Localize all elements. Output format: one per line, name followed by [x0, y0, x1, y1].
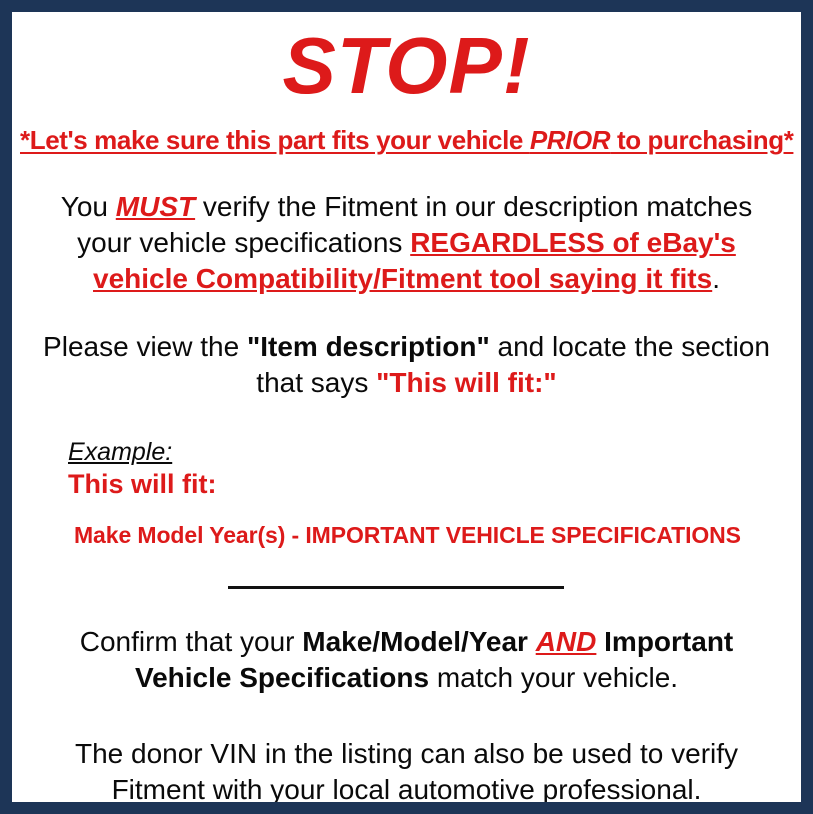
subtitle-tail-text: to purchasing* — [610, 125, 793, 155]
subtitle-banner: *Let's make sure this part fits your veh… — [20, 106, 793, 156]
confirm-space-1 — [528, 626, 536, 657]
confirm-bold-make-model-year: Make/Model/Year — [302, 626, 528, 657]
fitment-notice-card: STOP! *Let's make sure this part fits yo… — [0, 0, 813, 814]
paragraph-must-verify: You MUST verify the Fitment in our descr… — [20, 156, 793, 296]
notice-content-area: STOP! *Let's make sure this part fits yo… — [12, 12, 801, 802]
confirm-seg-2: match your vehicle. — [429, 662, 678, 693]
confirm-space-2 — [596, 626, 604, 657]
example-spec-line: Make Model Year(s) - IMPORTANT VEHICLE S… — [68, 500, 793, 548]
subtitle-emphasis-prior: PRIOR — [530, 125, 610, 155]
subtitle-lead-text: *Let's make sure this part fits your veh… — [20, 125, 530, 155]
stop-heading: STOP! — [20, 12, 793, 106]
confirm-and-emphasis: AND — [536, 626, 597, 657]
desc-red-this-will-fit: "This will fit:" — [376, 367, 557, 398]
divider-wrapper — [20, 548, 793, 594]
desc-seg-1: Please view the — [43, 331, 247, 362]
example-label-row: Example: — [68, 439, 793, 467]
example-block: Example: This will fit: Make Model Year(… — [20, 401, 793, 548]
confirm-seg-1: Confirm that your — [80, 626, 303, 657]
paragraph-confirm-match: Confirm that your Make/Model/Year AND Im… — [20, 594, 793, 696]
closing-thank-you: Thank you for confirming Fitment! — [20, 807, 793, 814]
must-emphasis: MUST — [116, 191, 195, 222]
desc-bold-item-description: "Item description" — [247, 331, 490, 362]
must-seg-3: . — [712, 263, 720, 294]
horizontal-divider — [228, 586, 564, 589]
example-label: Example: — [68, 439, 172, 467]
paragraph-item-description: Please view the "Item description" and l… — [20, 296, 793, 401]
example-this-will-fit: This will fit: — [68, 467, 793, 500]
paragraph-donor-vin: The donor VIN in the listing can also be… — [20, 696, 793, 808]
must-seg-1: You — [61, 191, 116, 222]
